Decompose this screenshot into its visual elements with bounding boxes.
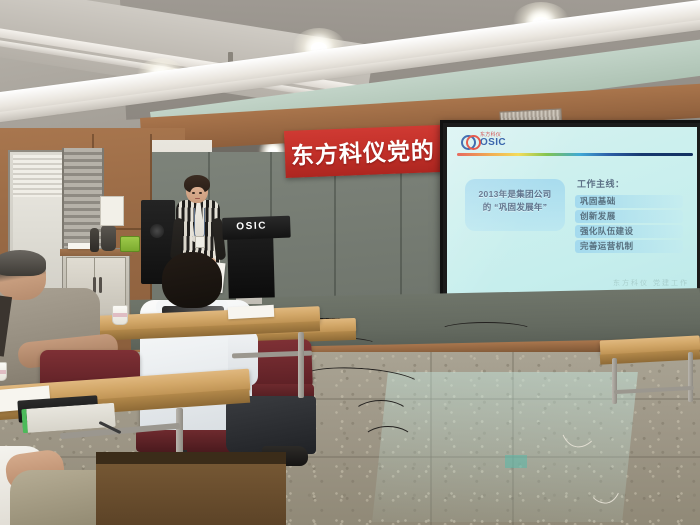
attendee-hair	[0, 250, 46, 276]
slide-rainbow-divider	[457, 153, 693, 156]
wall-notice-paper	[100, 196, 124, 226]
slide-bullet-item: 创新发展	[575, 210, 683, 223]
osic-logo-icon	[461, 135, 477, 146]
paper-cup[interactable]	[112, 305, 128, 325]
stacked-papers	[68, 243, 90, 249]
speaker-cone-icon	[150, 224, 164, 238]
slide-watermark: 东方科仪 党建工作	[613, 278, 689, 288]
slide-callout-box: 2013年是集团公司 的 “巩固发展年”	[465, 179, 565, 231]
slide-logo-wordmark: OSIC	[480, 138, 506, 148]
desk-shadow-edge	[96, 452, 286, 464]
slide-bullet-item: 巩固基础	[575, 195, 683, 208]
projection-screen: 东方科仪 OSIC 2013年是集团公司 的 “巩固发展年” 工作主线： 巩固基…	[440, 120, 700, 301]
chair-seat[interactable]	[136, 430, 236, 452]
podium-panel: OSIC	[222, 216, 291, 240]
id-badge	[195, 236, 205, 248]
desk-leg	[688, 352, 693, 402]
stage-cable	[440, 322, 532, 338]
presentation-slide: 东方科仪 OSIC 2013年是集团公司 的 “巩固发展年” 工作主线： 巩固基…	[447, 127, 697, 294]
speaker-face	[190, 187, 205, 203]
slide-bullet-item: 强化队伍建设	[575, 225, 683, 238]
banner-text: 东方科仪党的	[290, 131, 453, 171]
presentation-room-photo: 东方科仪党的 东方科仪 OSIC 2013年是集团公司 的 “巩固发展年” 工作…	[0, 0, 700, 525]
thermos-flask[interactable]	[90, 228, 99, 252]
power-cable	[362, 426, 414, 456]
desk-leg	[298, 332, 304, 398]
red-banner: 东方科仪党的	[284, 124, 458, 178]
paper-cup[interactable]	[0, 362, 7, 381]
floor-accent-tile	[505, 455, 527, 468]
electric-kettle[interactable]	[101, 226, 116, 251]
desk-leg	[612, 358, 617, 404]
green-storage-box[interactable]	[120, 236, 140, 252]
podium-body	[227, 237, 275, 298]
attendee-white-shirt-head	[162, 252, 222, 308]
slide-callout-line1: 2013年是集团公司	[465, 188, 565, 201]
slide-bullet-list: 巩固基础 创新发展 强化队伍建设 完善运营机制	[575, 195, 683, 255]
podium-logo-text: OSIC	[236, 220, 267, 232]
lanyard	[194, 208, 205, 239]
document-sheet	[228, 305, 275, 319]
slide-callout-line2: 的 “巩固发展年”	[465, 201, 565, 214]
slide-heading: 工作主线：	[577, 177, 625, 190]
slide-bullet-item: 完善运营机制	[575, 240, 683, 253]
slide-logo: 东方科仪 OSIC	[461, 133, 506, 148]
